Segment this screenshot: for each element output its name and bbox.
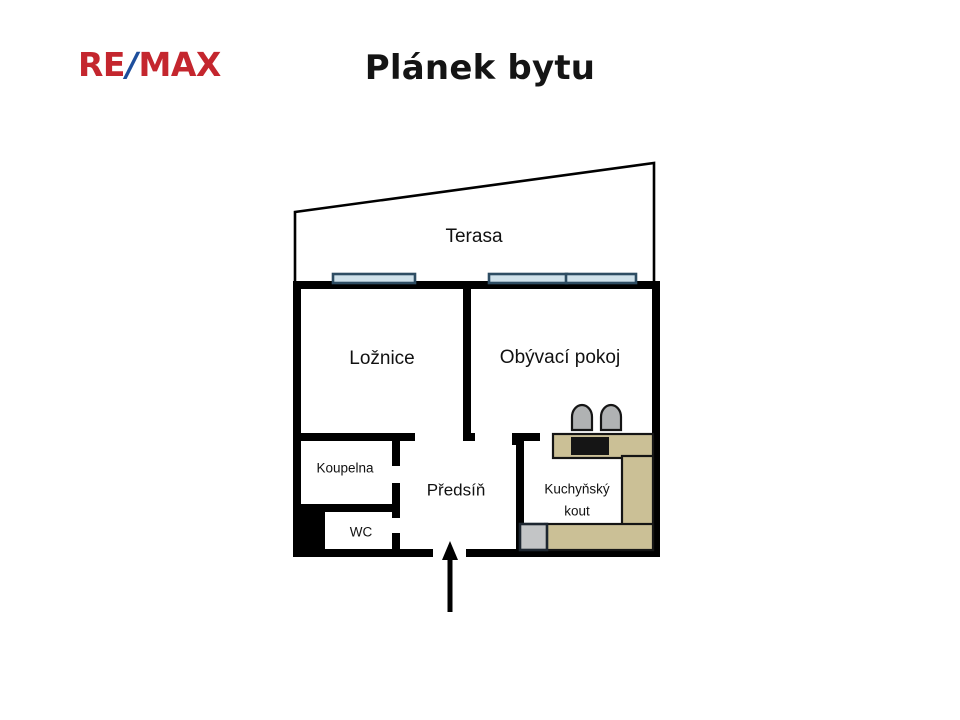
wall-bath-hall-bottom <box>392 533 400 557</box>
room-label-koupelna: Koupelna <box>316 461 374 476</box>
room-label-kuchynsky: Kuchyňský <box>544 482 610 497</box>
wall-bath-hall-lower <box>392 483 400 518</box>
appliance-square-icon <box>520 524 547 550</box>
terasa-outline <box>295 163 654 285</box>
kitchen-stools <box>572 405 621 430</box>
stool-left-icon <box>572 405 592 430</box>
block-shaft <box>293 508 325 557</box>
wall-hall-top-stub-left <box>463 433 475 441</box>
room-label-kout: kout <box>564 504 590 519</box>
window-living-left-icon <box>489 274 567 283</box>
counter-bottom-run <box>545 524 653 550</box>
room-label-loznice: Ložnice <box>349 348 415 369</box>
entry-arrow-icon <box>442 541 458 612</box>
room-label-predsin: Předsíň <box>427 480 486 499</box>
room-label-obyvaci-pokoj: Obývací pokoj <box>500 347 620 368</box>
cooktop-icon <box>572 438 608 454</box>
wall-kitchen-stub <box>512 433 520 445</box>
floorplan-page: RE/MAX Plánek bytu Terasa <box>0 0 960 720</box>
entry-arrow-head <box>442 541 458 560</box>
wall-bedroom-living <box>463 281 471 437</box>
window-living-right-icon <box>566 274 636 283</box>
room-label-wc: WC <box>350 525 373 540</box>
floorplan-drawing: Terasa <box>0 0 960 720</box>
room-terasa: Terasa <box>295 163 654 285</box>
floorplan-svg: Terasa <box>0 0 960 720</box>
wall-bath-hall-upper <box>392 433 400 466</box>
window-bedroom-icon <box>333 274 415 283</box>
room-label-terasa: Terasa <box>445 226 502 247</box>
stool-right-icon <box>601 405 621 430</box>
